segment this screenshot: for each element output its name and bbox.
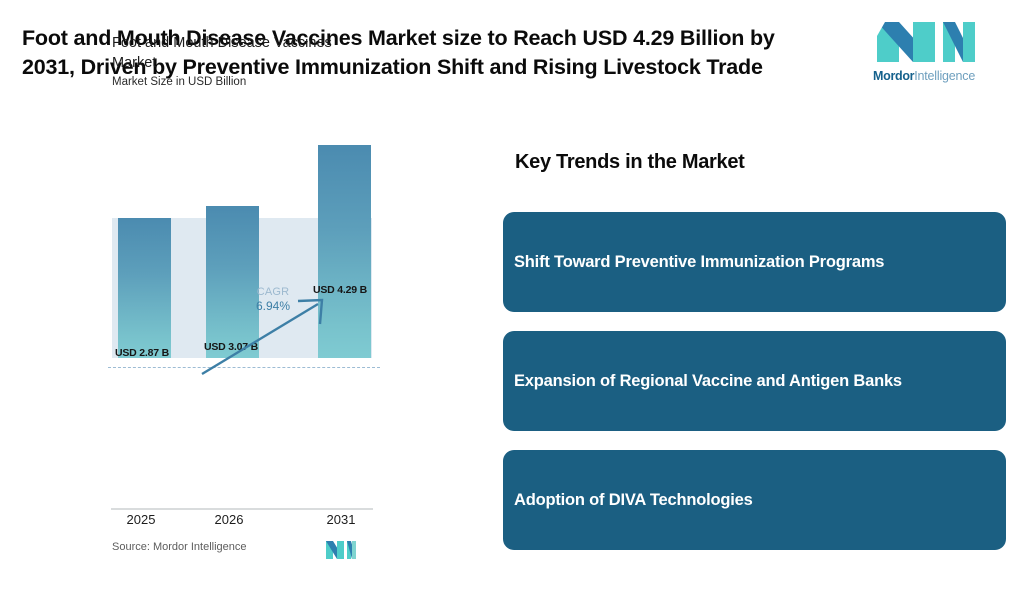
cagr-value: 6.94%	[256, 299, 290, 313]
cagr-annotation: CAGR 6.94%	[256, 285, 290, 313]
bar-2025	[118, 218, 171, 358]
x-tick-2031: 2031	[311, 512, 371, 527]
mordor-intelligence-logo-icon	[873, 18, 979, 66]
brand-name: MordorIntelligence	[873, 69, 981, 83]
x-tick-2025: 2025	[111, 512, 171, 527]
trend-card[interactable]: Expansion of Regional Vaccine and Antige…	[503, 331, 1006, 431]
trend-card-label: Shift Toward Preventive Immunization Pro…	[503, 252, 884, 273]
x-tick-2026: 2026	[199, 512, 259, 527]
chart-source: Source: Mordor Intelligence	[112, 541, 247, 553]
brand-name-bold: Mordor	[873, 69, 914, 83]
brand-name-light: Intelligence	[914, 69, 975, 83]
trend-card-label: Expansion of Regional Vaccine and Antige…	[503, 371, 902, 392]
mordor-intelligence-mark-icon	[325, 539, 357, 561]
cagr-label: CAGR	[256, 285, 290, 299]
bar-value-2025: USD 2.87 B	[115, 347, 169, 359]
chart-x-axis	[111, 508, 373, 510]
trends-heading: Key Trends in the Market	[515, 151, 745, 174]
trend-card[interactable]: Shift Toward Preventive Immunization Pro…	[503, 212, 1006, 312]
chart-title: Foot and Mouth Disease Vaccines Market	[112, 33, 362, 73]
trend-card[interactable]: Adoption of DIVA Technologies	[503, 450, 1006, 550]
infographic-page: Foot and Mouth Disease Vaccines Market s…	[0, 0, 1036, 600]
chart-subtitle: Market Size in USD Billion	[112, 76, 246, 88]
brand-logo: MordorIntelligence	[873, 18, 981, 83]
trend-card-label: Adoption of DIVA Technologies	[503, 490, 753, 511]
